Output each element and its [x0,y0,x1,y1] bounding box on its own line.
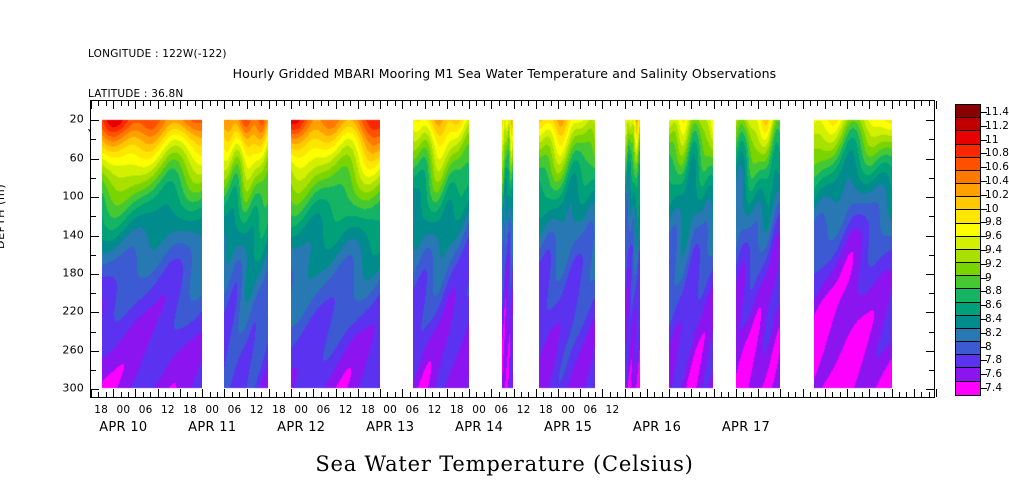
x-axis-tick [195,101,196,106]
colorbar-tick-label: 8.2 [985,327,1002,339]
colorbar-band [956,210,980,223]
y-axis-tick [926,236,934,237]
y-axis-tick [91,274,99,275]
x-axis-tick [239,101,240,106]
x-axis-tick [224,389,225,397]
colorbar-band [956,184,980,197]
x-axis-tick [499,392,500,397]
x-axis-tick [914,101,915,109]
x-axis-tick [514,101,515,109]
x-axis-tick [254,101,255,106]
x-axis-tick [565,101,566,106]
x-axis-tick [825,101,826,109]
x-axis-tick [328,392,329,397]
x-axis-tick [521,392,522,397]
colorbar-band [956,303,980,316]
x-axis-tick [306,101,307,106]
x-axis-tick [617,101,618,106]
colorbar-tick-label: 9.4 [985,244,1002,256]
x-axis-tick [929,101,930,106]
x-axis-tick [573,392,574,397]
y-axis-tick-label: 100 [38,190,84,203]
x-axis-tick [758,389,759,397]
x-axis-tick [395,392,396,397]
x-axis-tick [810,101,811,106]
x-axis-tick [491,101,492,109]
x-axis-tick [128,392,129,397]
colorbar-band [956,118,980,131]
x-axis-tick [506,392,507,397]
colorbar-tick-label: 11.2 [985,120,1009,132]
colorbar-band [956,131,980,144]
x-axis-tick [306,392,307,397]
colorbar-band [956,368,980,381]
x-axis-tick [410,101,411,106]
x-axis-tick [588,392,589,397]
colorbar-tick-label: 7.8 [985,354,1002,366]
colorbar-tick-label: 9.8 [985,216,1002,228]
x-axis-tick [832,392,833,397]
colorbar-band [956,105,980,118]
x-axis-tick [558,389,559,397]
colorbar-band [956,197,980,210]
x-axis-tick [514,389,515,397]
x-axis-tick [677,101,678,106]
x-axis-tick [269,101,270,109]
chart-title: Hourly Gridded MBARI Mooring M1 Sea Wate… [0,66,1009,81]
x-axis-tick [299,392,300,397]
x-axis-tick [595,101,596,106]
x-axis-tick [187,392,188,397]
x-axis-tick [121,392,122,397]
x-axis-tick [232,101,233,106]
x-axis-tick [780,101,781,109]
colorbar-tick-label: 8.6 [985,299,1002,311]
x-axis-tick [291,101,292,109]
x-axis-tick [195,392,196,397]
y-axis-tick [926,351,934,352]
x-axis-tick [373,392,374,397]
x-axis-tick [573,101,574,106]
y-axis-tick-label: 220 [38,305,84,318]
x-axis-tick [395,101,396,106]
colorbar-band [956,145,980,158]
x-axis-tick [269,389,270,397]
x-axis-tick [447,389,448,397]
x-axis-tick [728,101,729,106]
y-axis-tick-label: 60 [38,151,84,164]
heatmap-block [224,101,268,397]
x-axis-tick [121,101,122,106]
x-axis-tick [862,392,863,397]
colorbar-tick-label: 8.8 [985,285,1002,297]
x-axis-tick [736,101,737,109]
x-axis-tick [832,101,833,106]
x-axis-tick [165,101,166,106]
y-axis-tick-label: 140 [38,228,84,241]
x-axis-tick [892,101,893,109]
x-axis-tick [469,101,470,109]
x-axis-tick [869,101,870,109]
x-axis-tick [173,101,174,106]
x-axis-tick [625,101,626,109]
x-axis-tick [247,389,248,397]
colorbar-band [956,250,980,263]
x-axis-tick [610,392,611,397]
x-axis-tick [728,392,729,397]
x-axis-tick [469,389,470,397]
y-axis-tick [929,178,934,179]
x-axis-tick [350,101,351,106]
plot-frame [90,100,935,398]
x-axis-tick [210,392,211,397]
x-axis-tick [284,101,285,106]
x-axis-tick [202,389,203,397]
x-axis-tick [328,101,329,106]
x-axis-tick [699,392,700,397]
x-axis-tick [425,389,426,397]
y-axis-tick [926,197,934,198]
x-axis-tick [143,101,144,106]
x-axis-tick [736,389,737,397]
x-axis-tick [106,101,107,106]
x-axis-tick [580,101,581,109]
colorbar-band [956,263,980,276]
x-axis-tick [914,389,915,397]
x-axis-tick [158,389,159,397]
y-axis-tick [91,293,96,294]
x-axis-tick [165,392,166,397]
x-axis-tick [580,389,581,397]
x-axis-hour-label: 12 [596,404,630,416]
y-axis-tick [91,332,96,333]
x-axis-tick [758,101,759,109]
y-axis-tick [91,255,96,256]
colorbar-tick-label: 8.4 [985,313,1002,325]
x-axis-tick [788,392,789,397]
x-axis-tick [877,392,878,397]
x-axis-tick [91,101,92,109]
colorbar-tick-label: 10.8 [985,147,1009,159]
x-axis-tick [884,101,885,106]
x-axis-tick [158,101,159,109]
x-axis-tick [780,389,781,397]
x-axis-tick [662,392,663,397]
y-axis-tick [91,236,99,237]
x-axis-tick [706,101,707,106]
y-axis-tick [926,312,934,313]
x-axis-tick [817,392,818,397]
x-axis-tick [551,101,552,106]
x-axis-tick [476,101,477,106]
x-axis-tick [610,101,611,106]
x-axis-tick [113,101,114,109]
colorbar-band [956,329,980,342]
x-axis-tick [751,392,752,397]
x-axis-tick [313,101,314,109]
x-axis-tick [921,392,922,397]
x-axis-tick [484,101,485,106]
x-axis-tick [528,392,529,397]
x-axis-tick [358,389,359,397]
y-axis-tick [91,178,96,179]
x-axis-tick [358,101,359,109]
x-axis-tick [640,101,641,106]
heatmap-block [102,101,202,397]
x-axis-tick [691,389,692,397]
colorbar-band [956,289,980,302]
y-axis-tick [91,370,96,371]
x-axis-tick [135,389,136,397]
x-axis-tick [817,101,818,106]
x-axis-tick [869,389,870,397]
x-axis-tick [173,392,174,397]
x-axis-tick [899,392,900,397]
x-axis-tick [276,392,277,397]
x-axis-tick [751,101,752,106]
y-axis-tick [929,332,934,333]
x-axis-tick [454,392,455,397]
x-axis-tick [261,392,262,397]
x-axis-tick [906,392,907,397]
x-axis-tick [640,392,641,397]
colorbar-band [956,316,980,329]
x-axis-tick [402,101,403,109]
x-axis-tick [595,392,596,397]
x-axis-tick [721,101,722,106]
heatmap-block [413,101,469,397]
x-axis-tick [654,101,655,106]
x-axis-tick [462,101,463,106]
heatmap-block [625,101,640,397]
x-axis-tick [217,101,218,106]
colorbar-band [956,237,980,250]
y-axis-tick [929,139,934,140]
heatmap-block [669,101,713,397]
x-axis-tick [536,389,537,397]
x-axis-tick [854,392,855,397]
x-axis-tick [840,101,841,106]
heatmap-canvas [91,101,934,397]
x-axis-tick [476,392,477,397]
x-axis-tick [447,101,448,109]
x-axis-tick [425,101,426,109]
x-axis-tick [625,389,626,397]
x-axis-tick [854,101,855,106]
x-axis-tick [254,392,255,397]
x-axis-tick [387,101,388,106]
y-axis-tick [91,216,96,217]
x-axis-tick [180,101,181,109]
x-axis-tick [929,392,930,397]
y-axis-tick [91,139,96,140]
y-axis-tick [926,159,934,160]
x-axis-tick [276,101,277,106]
x-axis-tick [654,392,655,397]
x-axis-tick [202,101,203,109]
x-axis-tick [617,392,618,397]
heatmap-block [502,101,513,397]
x-axis-tick [150,392,151,397]
y-axis-tick [91,389,99,390]
y-axis-tick [926,274,934,275]
x-axis-tick [647,389,648,397]
y-axis-tick [929,293,934,294]
y-axis-tick [91,120,99,121]
x-axis-tick [565,392,566,397]
x-axis-tick [684,101,685,106]
x-axis-tick [840,392,841,397]
longitude-label: LONGITUDE : 122W(-122) [88,48,227,61]
y-axis-tick [929,370,934,371]
x-axis-tick [261,101,262,106]
x-axis-title: Sea Water Temperature (Celsius) [0,452,1009,476]
x-axis-tick [439,101,440,106]
x-axis-tick [825,389,826,397]
x-axis-tick [491,389,492,397]
x-axis-tick [365,392,366,397]
x-axis-day-label: APR 17 [686,420,806,435]
colorbar-tick-label: 9.2 [985,258,1002,270]
x-axis-tick [773,101,774,106]
heatmap-block [736,101,780,397]
x-axis-tick [558,101,559,109]
x-axis-tick [521,101,522,106]
x-axis-tick [669,101,670,109]
x-axis-tick [350,392,351,397]
x-axis-tick [662,101,663,106]
x-axis-tick [343,392,344,397]
x-axis-tick [551,392,552,397]
heatmap-block [539,101,595,397]
x-axis-tick [373,101,374,106]
x-axis-tick [766,392,767,397]
x-axis-tick [906,101,907,106]
x-axis-tick [417,392,418,397]
x-axis-tick [536,101,537,109]
colorbar-tick-label: 9.6 [985,230,1002,242]
x-axis-tick [343,101,344,106]
x-axis-tick [247,101,248,109]
y-axis-tick-label: 20 [38,113,84,126]
colorbar-tick-label: 9 [985,272,992,284]
x-axis-tick [299,101,300,106]
x-axis-tick [810,392,811,397]
x-axis-tick [743,101,744,106]
x-axis-tick [402,389,403,397]
x-axis-tick [462,392,463,397]
x-axis-tick [143,392,144,397]
x-axis-tick [803,389,804,397]
y-axis-tick [926,389,934,390]
x-axis-tick [239,392,240,397]
x-axis-tick [313,389,314,397]
x-axis-tick [803,101,804,109]
y-axis-tick [91,159,99,160]
colorbar-band [956,276,980,289]
colorbar-tick-label: 10.4 [985,175,1009,187]
y-axis-tick [91,197,99,198]
y-axis-tick [929,255,934,256]
x-axis-tick [98,392,99,397]
colorbar-tick-label: 7.6 [985,368,1002,380]
x-axis-tick [365,101,366,106]
y-axis-tick-label: 260 [38,343,84,356]
colorbar [955,104,981,396]
x-axis-tick [677,392,678,397]
colorbar-band [956,342,980,355]
x-axis-tick [795,101,796,106]
x-axis-tick [321,101,322,106]
x-axis-tick [180,389,181,397]
x-axis-tick [128,101,129,106]
x-axis-tick [632,392,633,397]
x-axis-tick [543,101,544,106]
x-axis-tick [417,101,418,106]
x-axis-tick [936,101,937,109]
x-axis-tick [224,101,225,109]
x-axis-tick [432,101,433,106]
x-axis-tick [699,101,700,106]
x-axis-tick [291,389,292,397]
x-axis-tick [721,392,722,397]
x-axis-tick [921,101,922,106]
x-axis-tick [766,101,767,106]
y-axis-tick-label: 300 [38,382,84,395]
x-axis-tick [106,392,107,397]
x-axis-tick [432,392,433,397]
x-axis-tick [98,101,99,106]
heatmap-block [814,101,892,397]
x-axis-tick [113,389,114,397]
colorbar-band [956,171,980,184]
x-axis-tick [135,101,136,109]
y-axis-tick [926,120,934,121]
x-axis-tick [336,101,337,109]
x-axis-tick [499,101,500,106]
colorbar-tick-label: 10.6 [985,161,1009,173]
x-axis-tick [669,389,670,397]
x-axis-tick [410,392,411,397]
x-axis-tick [602,389,603,397]
y-axis-tick [91,312,99,313]
x-axis-tick [647,101,648,109]
x-axis-tick [528,101,529,106]
x-axis-tick [506,101,507,106]
x-axis-tick [632,101,633,106]
x-axis-tick [602,101,603,109]
colorbar-tick-label: 8 [985,341,992,353]
x-axis-tick [336,389,337,397]
x-axis-tick [892,389,893,397]
y-axis-tick [91,351,99,352]
heatmap-block [291,101,380,397]
x-axis-tick [454,101,455,106]
x-axis-tick [936,389,937,397]
x-axis-tick [795,392,796,397]
x-axis-tick [150,101,151,106]
colorbar-tick-label: 7.4 [985,382,1002,394]
colorbar-tick-label: 10 [985,203,999,215]
x-axis-tick [439,392,440,397]
x-axis-tick [187,101,188,106]
x-axis-tick [847,389,848,397]
colorbar-tick-label: 11.4 [985,106,1009,118]
x-axis-tick [714,101,715,109]
x-axis-tick [380,389,381,397]
x-axis-tick [773,392,774,397]
x-axis-tick [862,101,863,106]
